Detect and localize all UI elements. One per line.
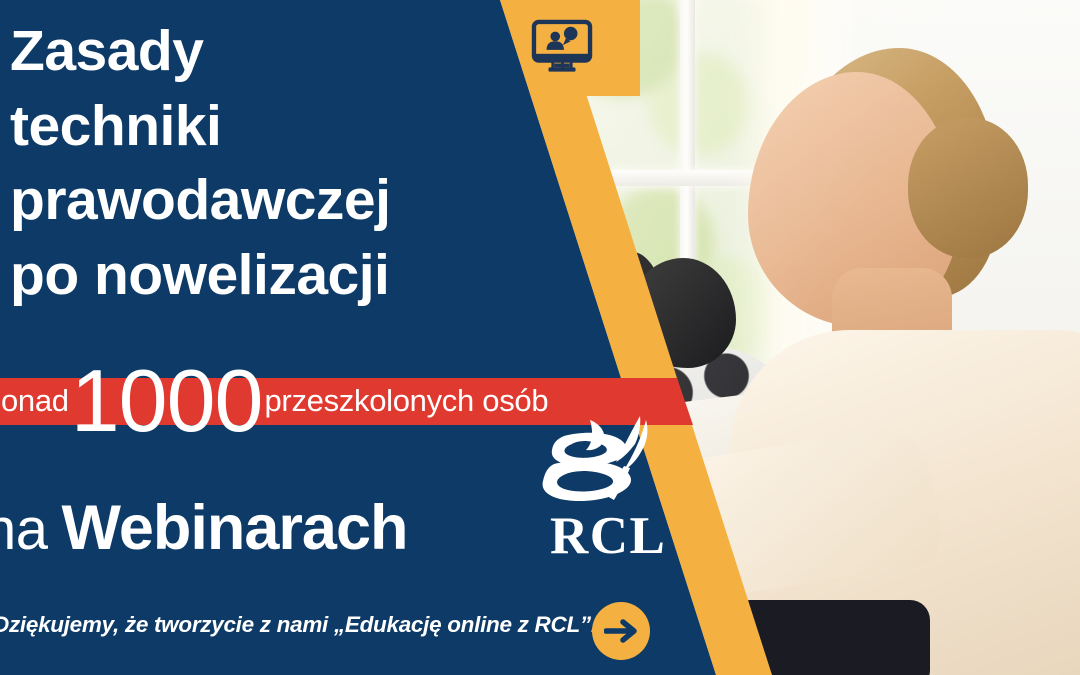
arrow-right-icon xyxy=(604,616,638,646)
stat-number: 1000 xyxy=(71,361,263,440)
subline-bold: Webinarach xyxy=(62,492,408,564)
headline-line-3: prawodawczej xyxy=(10,163,550,238)
quill-pen-ribbon-mark xyxy=(528,414,678,519)
headline-line-2: techniki xyxy=(10,89,550,164)
subline: na Webinarach xyxy=(0,492,407,564)
subline-light: na xyxy=(0,496,48,563)
tagline: Dziękujemy, że tworzycie z nami „Edukacj… xyxy=(0,612,597,638)
rcl-wordmark: RCL xyxy=(550,510,666,563)
headline-line-4: po nowelizacji xyxy=(10,238,550,313)
headline-line-1: Zasady xyxy=(10,14,550,89)
rcl-logo: RCL xyxy=(528,414,678,569)
headline: Zasady techniki prawodawczej po noweliza… xyxy=(10,14,550,313)
cta-arrow-button[interactable] xyxy=(592,602,650,660)
webinar-promo-banner: Zasady techniki prawodawczej po noweliza… xyxy=(0,0,1080,675)
stat-suffix: przeszkolonych osób xyxy=(264,383,548,419)
woman-hair-bun xyxy=(908,118,1028,258)
stat-prefix: ponad xyxy=(0,383,69,419)
